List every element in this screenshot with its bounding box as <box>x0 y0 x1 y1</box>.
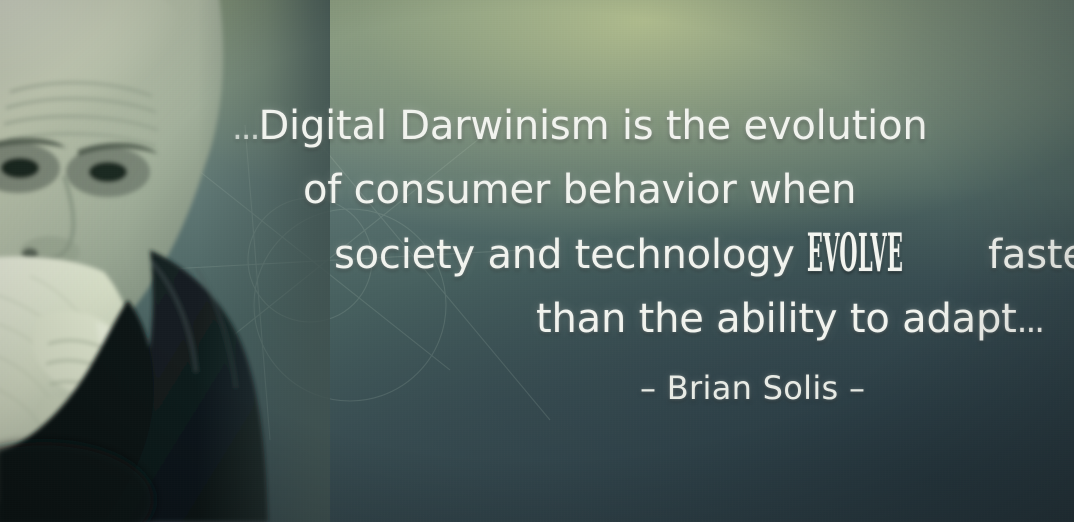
attribution-dash-left: – <box>640 369 656 407</box>
quote-line-3: society and technology EVOLVEfaster <box>334 231 1074 278</box>
quote-line-4-text: than the ability to adapt <box>536 296 1017 342</box>
quote-poster: ...Digital Darwinism is the evolution of… <box>0 0 1074 522</box>
quote-line-2: of consumer behavior when <box>303 167 856 213</box>
attribution-dash-right: – <box>849 369 865 407</box>
attribution-line: – Brian Solis – <box>640 369 865 407</box>
attribution-author: Brian Solis <box>667 369 839 407</box>
quote-line-1-text: Digital Darwinism is the evolution <box>258 103 927 149</box>
quote-line-4: than the ability to adapt... <box>536 296 1043 342</box>
quote-line-3-before: society and technology <box>334 232 807 278</box>
trailing-ellipsis: ... <box>1017 301 1043 341</box>
evolve-emphasis-word: EVOLVE <box>807 234 903 275</box>
quote-line-3-after: faster <box>988 232 1074 278</box>
quote-line-1: ...Digital Darwinism is the evolution <box>232 103 928 149</box>
leading-ellipsis: ... <box>232 108 258 148</box>
darwin-portrait <box>0 0 330 522</box>
